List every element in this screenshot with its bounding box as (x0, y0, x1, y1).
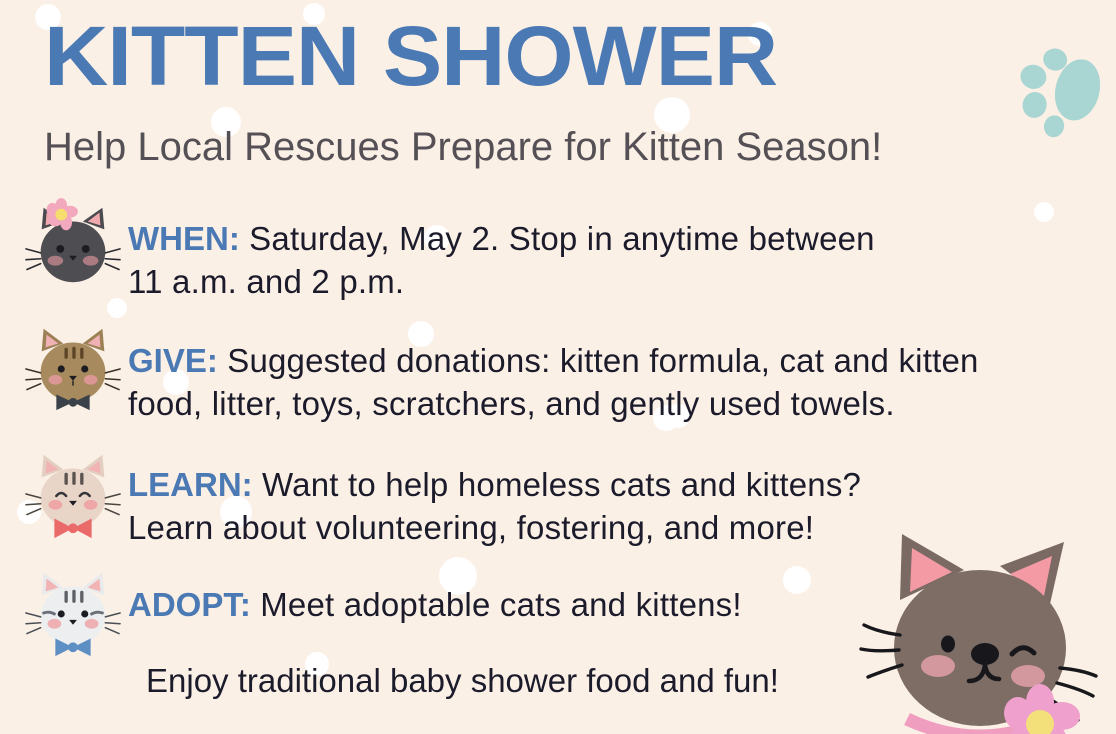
info-row-when: WHEN: Saturday, May 2. Stop in anytime b… (18, 196, 875, 304)
row-body-line2: Learn about volunteering, fostering, and… (128, 509, 814, 546)
paw-print-icon (1016, 34, 1108, 138)
row-body: Suggested donations: kitten formula, cat… (218, 342, 979, 379)
row-body: Want to help homeless cats and kittens? (253, 466, 861, 503)
row-text: WHEN: Saturday, May 2. Stop in anytime b… (128, 196, 875, 304)
cat-white-bluebow-icon (18, 562, 128, 660)
info-row-learn: LEARN: Want to help homeless cats and ki… (18, 444, 861, 550)
row-text: ADOPT: Meet adoptable cats and kittens! (128, 562, 742, 627)
row-text: GIVE: Suggested donations: kitten formul… (128, 318, 979, 426)
row-body-line2: food, litter, toys, scratchers, and gent… (128, 385, 895, 422)
row-label: WHEN: (128, 220, 240, 257)
decorative-dot (1034, 202, 1054, 222)
cat-mascot-winking-icon (852, 508, 1116, 734)
page-subtitle: Help Local Rescues Prepare for Kitten Se… (44, 126, 882, 168)
row-text: LEARN: Want to help homeless cats and ki… (128, 444, 861, 550)
poster-canvas: KITTEN SHOWER Help Local Rescues Prepare… (0, 0, 1116, 734)
cat-tabby-bowtie-icon (18, 318, 128, 416)
decorative-dot (783, 566, 811, 594)
row-body: Saturday, May 2. Stop in anytime between (240, 220, 875, 257)
cat-cream-redbow-icon (18, 444, 128, 542)
row-label: ADOPT: (128, 586, 251, 623)
info-row-adopt: ADOPT: Meet adoptable cats and kittens! (18, 562, 742, 660)
cat-gray-flower-icon (18, 196, 128, 294)
row-label: LEARN: (128, 466, 253, 503)
row-body-line2: 11 a.m. and 2 p.m. (128, 263, 404, 300)
closing-line: Enjoy traditional baby shower food and f… (146, 660, 779, 703)
page-title: KITTEN SHOWER (44, 14, 777, 98)
info-row-give: GIVE: Suggested donations: kitten formul… (18, 318, 979, 426)
row-label: GIVE: (128, 342, 218, 379)
row-body: Meet adoptable cats and kittens! (251, 586, 742, 623)
